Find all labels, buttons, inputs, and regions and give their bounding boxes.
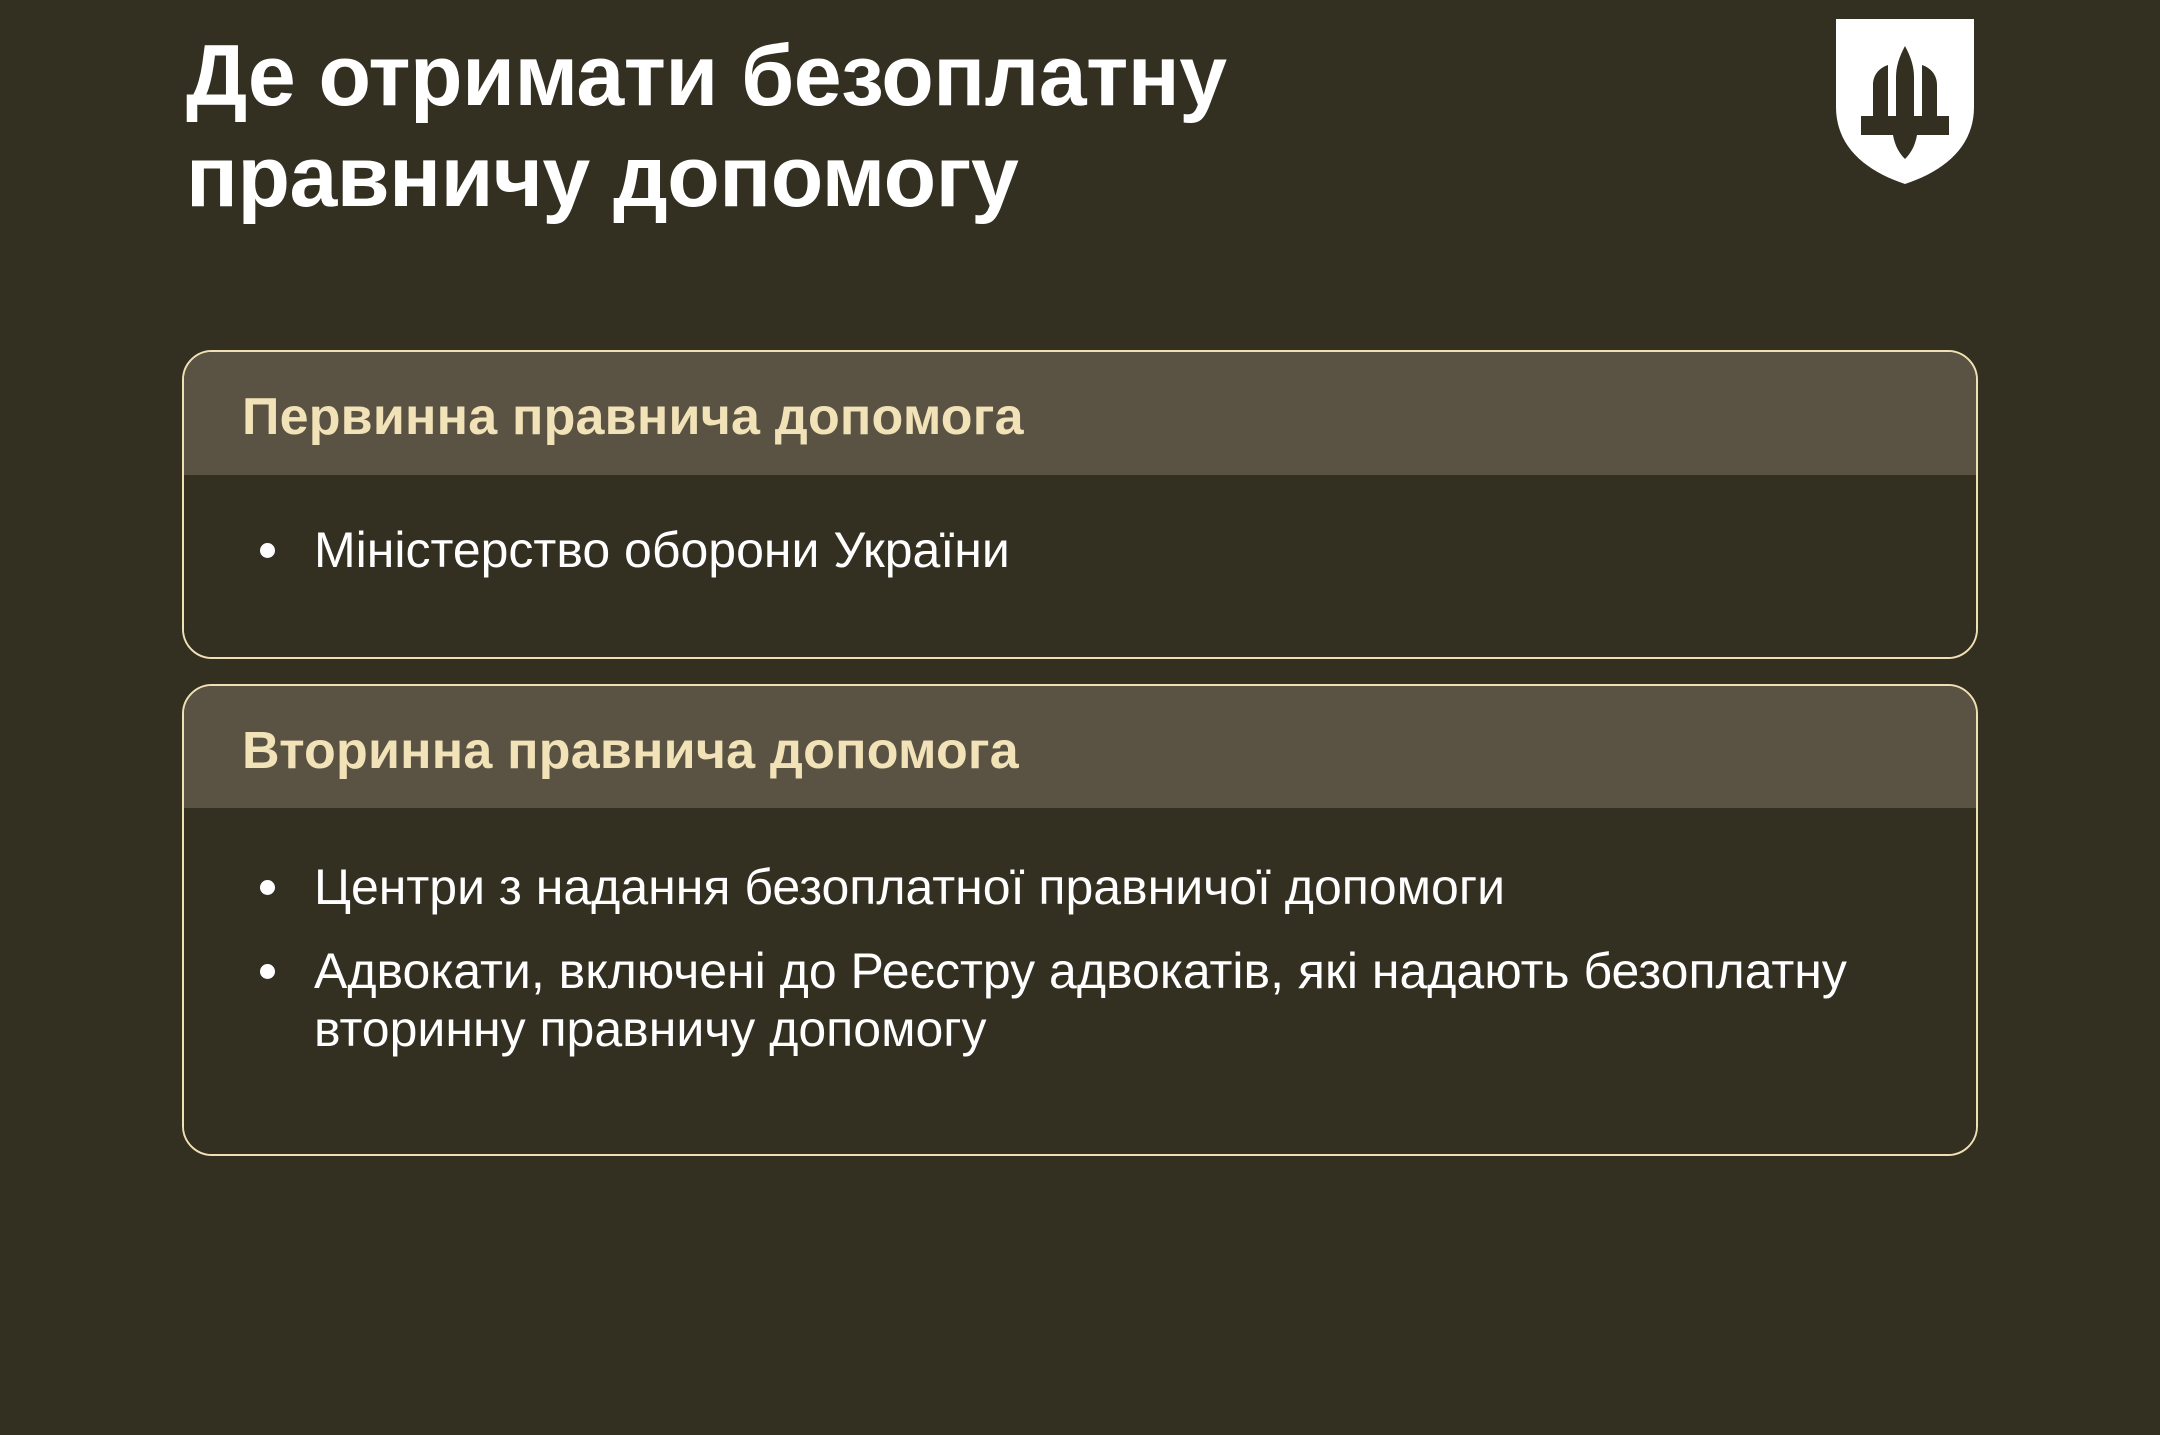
list-item-label: Міністерство оборони України [314, 521, 1936, 579]
page-title: Де отримати безоплатну правничу допомогу [186, 26, 1726, 229]
card-primary-header: Первинна правнича допомога [184, 352, 1976, 475]
card-secondary-header: Вторинна правнича допомога [184, 686, 1976, 809]
page-header: Де отримати безоплатну правничу допомогу [0, 0, 2160, 300]
poster-page: Де отримати безоплатну правничу допомогу… [0, 0, 2160, 1435]
card-primary-title: Первинна правнича допомога [242, 390, 1976, 445]
bullet-dot-icon [260, 964, 275, 979]
card-primary-list: Міністерство оборони України [242, 521, 1936, 579]
card-secondary-legal-aid: Вторинна правнича допомога Центри з нада… [182, 684, 1978, 1157]
list-item: Міністерство оборони України [242, 521, 1936, 579]
cards-container: Первинна правнича допомога Міністерство … [182, 350, 1978, 1181]
bullet-dot-icon [260, 880, 275, 895]
list-item: Адвокати, включені до Реєстру адвокатів,… [242, 942, 1936, 1058]
card-secondary-title: Вторинна правнича допомога [242, 724, 1976, 779]
list-item-label: Центри з надання безоплатної правничої д… [314, 858, 1936, 916]
card-primary-legal-aid: Первинна правнича допомога Міністерство … [182, 350, 1978, 659]
card-primary-body: Міністерство оборони України [184, 475, 1976, 657]
bullet-dot-icon [260, 543, 275, 558]
card-secondary-list: Центри з надання безоплатної правничої д… [242, 858, 1936, 1058]
list-item: Центри з надання безоплатної правничої д… [242, 858, 1936, 916]
ukrainian-trident-shield-emblem [1836, 19, 1974, 184]
card-secondary-body: Центри з надання безоплатної правничої д… [184, 808, 1976, 1154]
list-item-label: Адвокати, включені до Реєстру адвокатів,… [314, 942, 1936, 1058]
